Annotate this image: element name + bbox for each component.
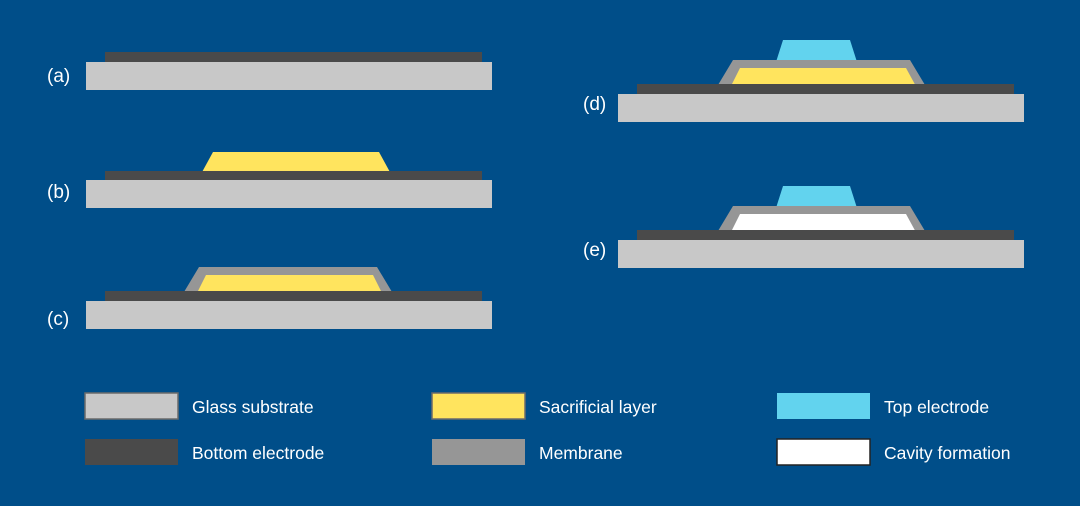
legend-item-top-electrode: Top electrode — [777, 393, 989, 419]
legend-swatch-top-electrode — [777, 393, 870, 419]
panel-c-bottom-electrode — [105, 291, 482, 302]
legend-label-membrane: Membrane — [539, 443, 623, 463]
panel-d-top-electrode — [776, 40, 857, 62]
legend-item-glass-substrate: Glass substrate — [85, 393, 314, 419]
panel-d-glass-substrate — [618, 94, 1024, 122]
legend-item-bottom-electrode: Bottom electrode — [85, 439, 324, 465]
panel-c-glass-substrate — [86, 301, 492, 329]
legend-swatch-cavity-formation — [777, 439, 870, 465]
panel-a: (a) — [47, 52, 492, 90]
panel-a-glass-substrate — [86, 62, 492, 90]
legend-label-glass-substrate: Glass substrate — [192, 397, 314, 417]
panel-b-glass-substrate — [86, 180, 492, 208]
panel-d-bottom-electrode — [637, 84, 1014, 95]
legend-swatch-bottom-electrode — [85, 439, 178, 465]
legend-label-sacrificial-layer: Sacrificial layer — [539, 397, 657, 417]
panel-e-top-electrode — [776, 186, 857, 208]
legend-label-top-electrode: Top electrode — [884, 397, 989, 417]
panel-d-label: (d) — [583, 94, 606, 115]
legend-label-cavity-formation: Cavity formation — [884, 443, 1010, 463]
panel-e-bottom-electrode — [637, 230, 1014, 241]
panel-a-label: (a) — [47, 66, 70, 87]
legend-item-cavity-formation: Cavity formation — [777, 439, 1010, 465]
legend-swatch-glass-substrate — [85, 393, 178, 419]
panel-b-label: (b) — [47, 182, 70, 203]
panel-c-label: (c) — [47, 309, 69, 330]
legend-swatch-sacrificial-layer — [432, 393, 525, 419]
panel-e-label: (e) — [583, 240, 606, 261]
panel-e-glass-substrate — [618, 240, 1024, 268]
legend-item-sacrificial-layer: Sacrificial layer — [432, 393, 657, 419]
legend-swatch-membrane — [432, 439, 525, 465]
legend-label-bottom-electrode: Bottom electrode — [192, 443, 324, 463]
panel-a-bottom-electrode — [105, 52, 482, 63]
panel-b-sacrificial-layer — [201, 152, 391, 174]
process-flow-diagram: (a) (b) (c) (d) — [0, 0, 1080, 506]
